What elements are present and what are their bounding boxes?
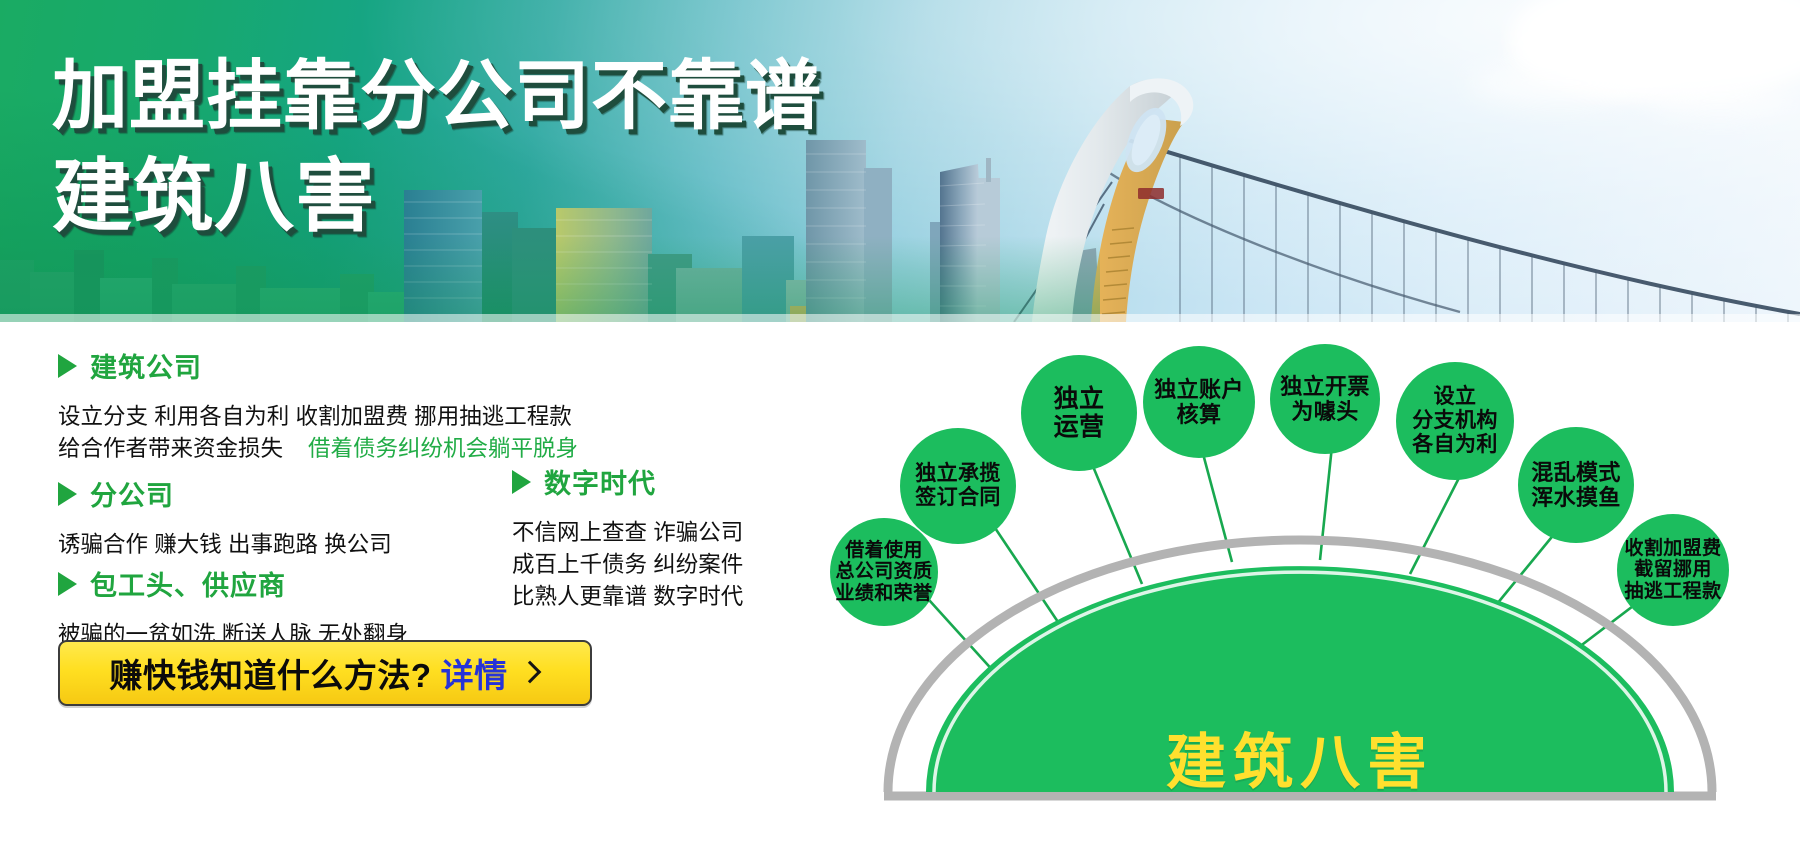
section-title: 数字时代 (544, 462, 656, 501)
triangle-bullet-icon (58, 482, 77, 506)
bubble-independent-contracting[interactable]: 独立承揽 签订合同 (900, 428, 1016, 544)
body-line: 比熟人更靠谱 数字时代 (512, 581, 743, 613)
section-body: 不信网上查查 诈骗公司 成百上千债务 纠纷案件 比熟人更靠谱 数字时代 (512, 517, 743, 613)
headline-line-2: 建筑八害 (52, 150, 822, 244)
body-line: 诱骗合作 赚大钱 出事跑路 换公司 (58, 529, 392, 561)
left-content: 建筑公司 设立分支 利用各自为利 收割加盟费 挪用抽逃工程款 给合作者带来资金损… (0, 322, 800, 844)
body-line: 设立分支 利用各自为利 收割加盟费 挪用抽逃工程款 (58, 401, 578, 433)
cta-question-label: 赚快钱知道什么方法? (109, 649, 431, 697)
body-line: 成百上千债务 纠纷案件 (512, 549, 743, 581)
triangle-bullet-icon (58, 354, 77, 378)
bubble-label: 收割加盟费 截留挪用 抽逃工程款 (1620, 538, 1725, 603)
bubble-label: 独立承揽 签订合同 (911, 462, 1005, 510)
body-line: 给合作者带来资金损失 借着债务纠纷机会躺平脱身 (58, 433, 578, 465)
bridge-icon (1014, 78, 1800, 322)
section-header: 数字时代 (512, 462, 743, 501)
bubble-label: 独立开票 为噱头 (1276, 374, 1374, 424)
chevron-right-icon (519, 662, 541, 684)
section-header: 分公司 (58, 474, 392, 513)
bubble-diagram: 建筑八害 借着使用 总公司资质 业绩和荣誉独立承揽 签订合同独立 运营独立账户 … (800, 322, 1800, 844)
bubble-label: 独立账户 核算 (1150, 377, 1248, 427)
bubble-set-up-branches[interactable]: 设立 分支机构 各自为利 (1396, 362, 1514, 480)
bubble-harvest-franchise-fee[interactable]: 收割加盟费 截留挪用 抽逃工程款 (1617, 514, 1729, 626)
section-title: 分公司 (90, 474, 174, 513)
bubble-use-hq-qualification[interactable]: 借着使用 总公司资质 业绩和荣誉 (830, 518, 938, 626)
cta-button[interactable]: 赚快钱知道什么方法? 详情 (58, 640, 592, 706)
section-body: 设立分支 利用各自为利 收割加盟费 挪用抽逃工程款 给合作者带来资金损失 借着债… (58, 401, 578, 465)
bubble-independent-accounting[interactable]: 独立账户 核算 (1143, 346, 1255, 458)
triangle-bullet-icon (58, 572, 77, 596)
poster-root: 加盟挂靠分公司不靠谱 建筑八害 建筑公司 设立分支 利用各自为利 收割加盟费 挪… (0, 0, 1800, 844)
section-header: 建筑公司 (58, 346, 578, 385)
section-header: 包工头、供应商 (58, 564, 408, 603)
hero-headline: 加盟挂靠分公司不靠谱 建筑八害 (52, 52, 822, 244)
bubble-label: 设立 分支机构 各自为利 (1408, 385, 1502, 457)
cta-detail-link[interactable]: 详情 (441, 649, 508, 697)
headline-line-1: 加盟挂靠分公司不靠谱 (52, 52, 822, 142)
body-line: 不信网上查查 诈骗公司 (512, 517, 743, 549)
section-construction-company: 建筑公司 设立分支 利用各自为利 收割加盟费 挪用抽逃工程款 给合作者带来资金损… (58, 346, 578, 465)
body-line-text: 给合作者带来资金损失 (58, 436, 283, 461)
section-body: 诱骗合作 赚大钱 出事跑路 换公司 (58, 529, 392, 561)
section-contractor-supplier: 包工头、供应商 被骗的一贫如洗 断送人脉 无处翻身 (58, 564, 408, 651)
section-digital-era: 数字时代 不信网上查查 诈骗公司 成百上千债务 纠纷案件 比熟人更靠谱 数字时代 (512, 462, 743, 613)
section-title: 建筑公司 (90, 346, 202, 385)
bubble-label: 独立 运营 (1050, 385, 1109, 442)
hero-banner: 加盟挂靠分公司不靠谱 建筑八害 (0, 0, 1800, 322)
section-branch-company: 分公司 诱骗合作 赚大钱 出事跑路 换公司 (58, 474, 392, 561)
triangle-bullet-icon (512, 470, 531, 494)
bubble-independent-invoicing[interactable]: 独立开票 为噱头 (1270, 344, 1380, 454)
bubble-label: 借着使用 总公司资质 业绩和荣誉 (831, 540, 936, 605)
body-line-highlight: 借着债务纠纷机会躺平脱身 (308, 436, 578, 461)
bubble-chaotic-model[interactable]: 混乱模式 浑水摸鱼 (1518, 427, 1634, 543)
section-title: 包工头、供应商 (90, 564, 286, 603)
bubble-label: 混乱模式 浑水摸鱼 (1527, 460, 1625, 510)
bubble-independent-operation[interactable]: 独立 运营 (1021, 355, 1137, 471)
